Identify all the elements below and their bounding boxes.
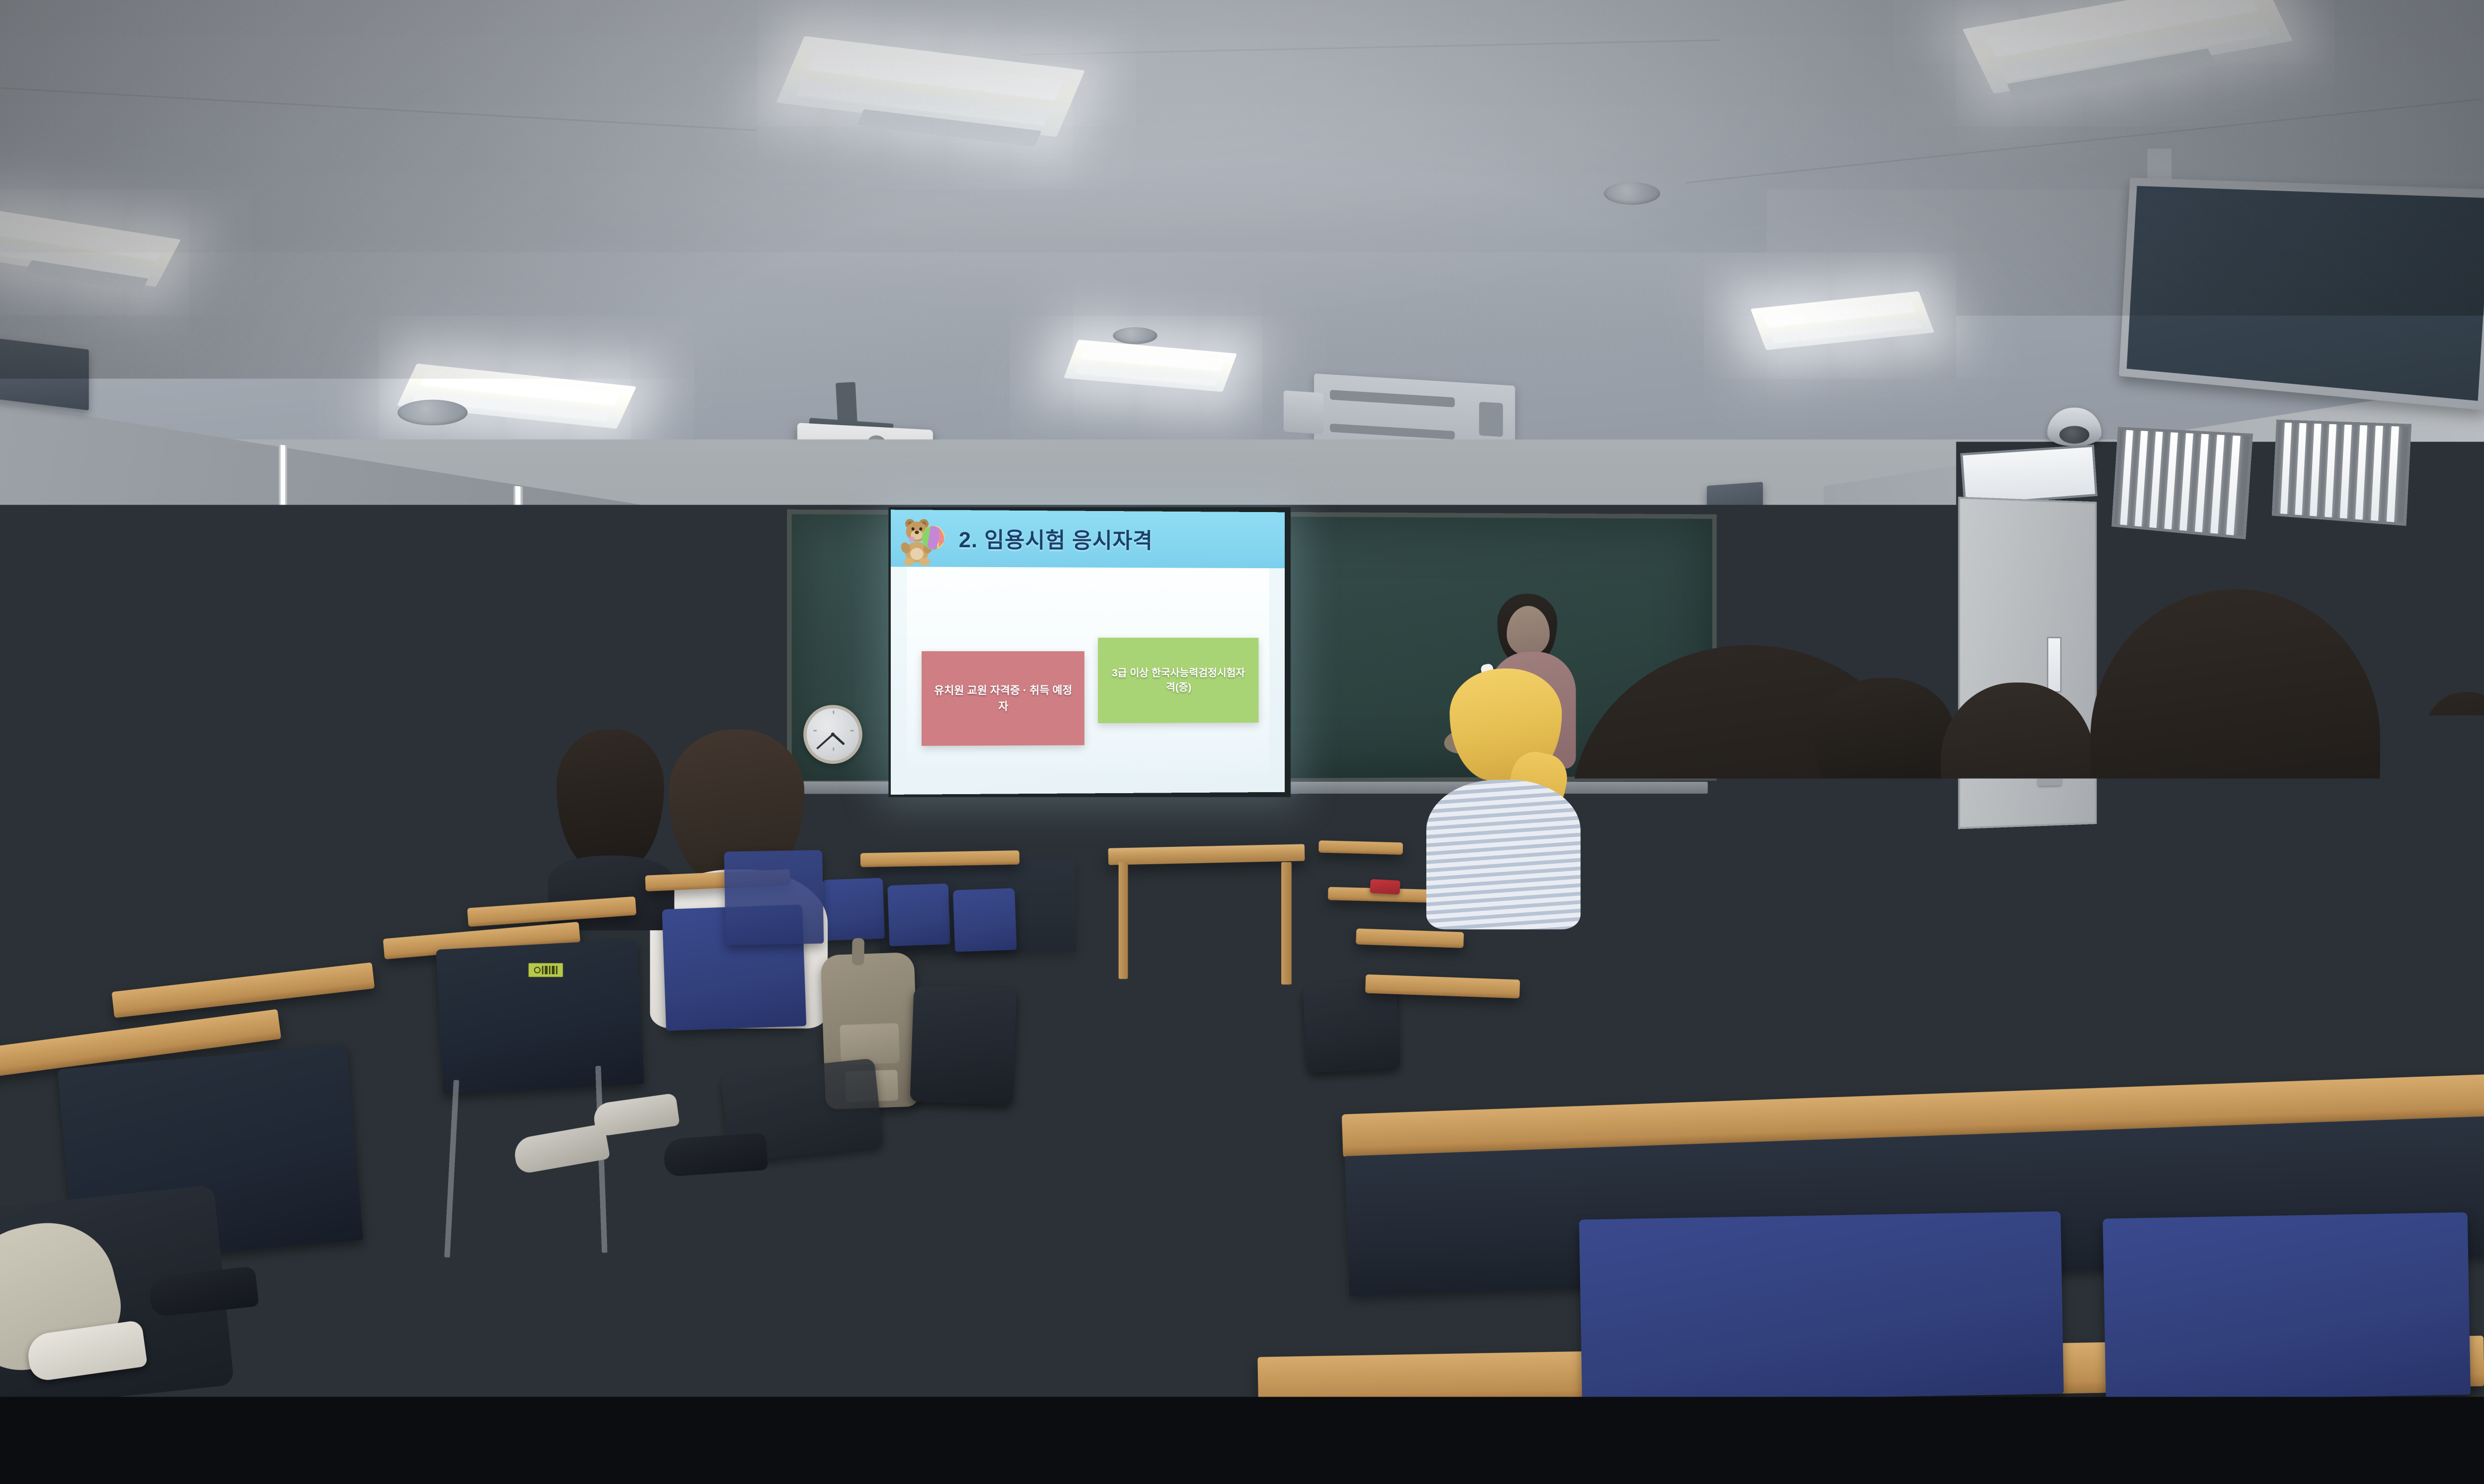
lecture-hall-photo: 2. 임용시험 응시자격 유치원 교원 자격증 · 취득 예정자 3급 이상 한… <box>0 0 2484 1397</box>
desk-row-far <box>1319 840 1403 855</box>
student <box>155 748 248 897</box>
student <box>2422 692 2484 888</box>
presentation-slide: 2. 임용시험 응시자격 유치원 교원 자격증 · 취득 예정자 3급 이상 한… <box>891 510 1285 795</box>
slide-body: 유치원 교원 자격증 · 취득 예정자 3급 이상 한국사능력검정시험자격(증) <box>907 567 1269 775</box>
chair[interactable] <box>724 850 824 945</box>
wall-vent-louver <box>2272 420 2411 526</box>
table-shelf <box>1132 946 1281 953</box>
table-leg <box>1281 862 1292 985</box>
desk-row-far <box>860 850 1019 867</box>
pencil-case <box>1370 879 1400 894</box>
student-hair <box>556 729 664 869</box>
shoe <box>663 1132 768 1177</box>
chair[interactable] <box>887 884 950 947</box>
slide-box-pink: 유치원 교원 자격증 · 취득 예정자 <box>922 651 1085 746</box>
wall-monitor <box>2119 178 2484 411</box>
air-conditioner-side-vent <box>1284 390 1323 434</box>
slide-header: 2. 임용시험 응시자격 <box>891 510 1285 568</box>
slide-box-green: 3급 이상 한국사능력검정시험자격(증) <box>1098 638 1258 724</box>
door-transom-window <box>1960 445 2097 506</box>
projection-screen-frame: 2. 임용시험 응시자격 유치원 교원 자격증 · 취득 예정자 3급 이상 한… <box>888 507 1290 797</box>
student <box>543 729 683 925</box>
table-leg <box>1119 862 1128 979</box>
wall-vent-louver <box>2111 427 2253 539</box>
chair[interactable] <box>953 888 1017 952</box>
bag <box>910 985 1016 1105</box>
monitor-screen <box>2127 186 2484 401</box>
slide-title: 2. 임용시험 응시자격 <box>959 523 1153 555</box>
bag <box>2344 1014 2484 1126</box>
asset-tag-sticker <box>529 963 563 977</box>
wall-speaker-left <box>0 338 89 411</box>
student-body <box>155 776 243 898</box>
smoke-detector-icon <box>1113 327 1157 344</box>
chair[interactable] <box>436 939 644 1095</box>
slide-box-group: 유치원 교원 자격증 · 취득 예정자 3급 이상 한국사능력검정시험자격(증) <box>922 637 1259 745</box>
student <box>2002 589 2484 1290</box>
student-body-yellow <box>1534 963 1983 1262</box>
smoke-detector-icon <box>1604 182 1660 205</box>
smoke-detector-icon <box>397 400 467 426</box>
projection-screen: 2. 임용시험 응시자격 유치원 교원 자격증 · 취득 예정자 3급 이상 한… <box>891 510 1285 795</box>
student-hair <box>2422 692 2484 814</box>
eyeglasses-icon <box>97 746 137 762</box>
teddy-bear-icon <box>897 510 949 570</box>
